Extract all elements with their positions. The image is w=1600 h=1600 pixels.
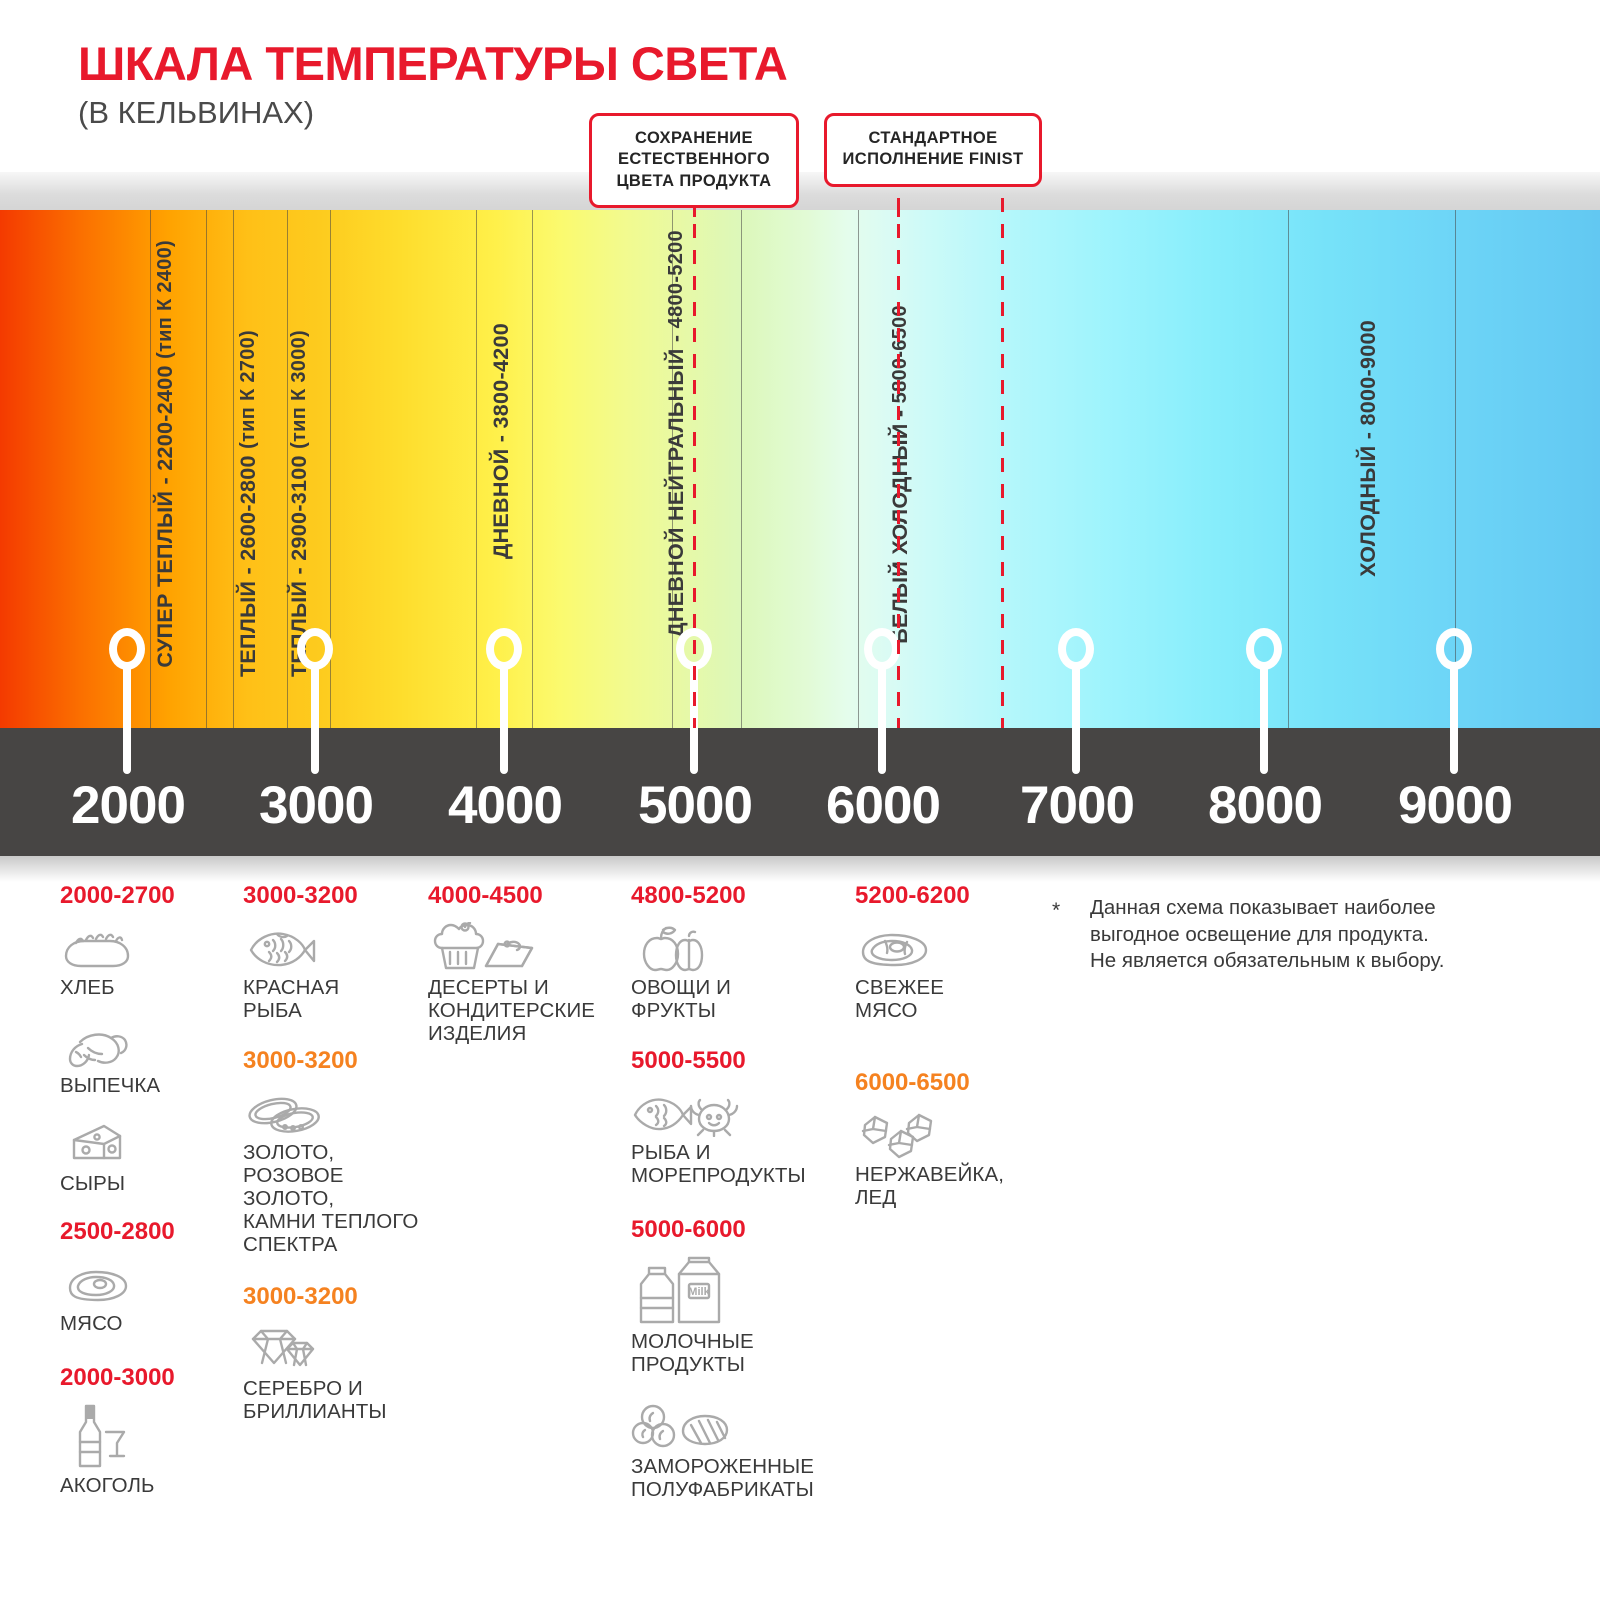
pin-head-icon [864, 628, 900, 670]
legend-column: 4000-4500 ДЕСЕРТЫ ИКОНДИТЕРСКИЕИЗДЕЛИЯ [428, 882, 623, 1060]
legend-group: 2500-2800 МЯСО [60, 1218, 235, 1336]
band-divider [532, 210, 533, 728]
axis-tick-8000: 8000 [1208, 775, 1322, 836]
band-label-line2: 5800-6500 [889, 305, 911, 403]
footnote-body: Данная схема показывает наиболее выгодно… [1090, 895, 1552, 975]
band-label-super-warm: СУПЕР ТЕПЛЫЙ - 2200-2400 (тип К 2400) [153, 240, 178, 668]
fish-icon [243, 916, 428, 972]
legend-caption: МЯСО [60, 1313, 235, 1336]
pin-head-icon [1058, 628, 1094, 670]
band-label-line1: СУПЕР ТЕПЛЫЙ - 2200-2400 [153, 365, 177, 667]
legend-group: 4000-4500 ДЕСЕРТЫ ИКОНДИТЕРСКИЕИЗДЕЛИЯ [428, 882, 623, 1046]
pin-stem [1260, 666, 1268, 774]
legend-group: 3000-3200 КРАСНАЯРЫБА [243, 882, 428, 1023]
legend-range: 6000-6500 [855, 1069, 1035, 1097]
legend-range: 5200-6200 [855, 882, 1035, 910]
footnote-line-1: Данная схема показывает наиболее [1090, 895, 1552, 922]
legend-caption: СВЕЖЕЕМЯСО [855, 977, 1035, 1023]
legend-caption: АКОГОЛЬ [60, 1475, 235, 1498]
pin-stem [1072, 666, 1080, 774]
legend-caption: ЗОЛОТО,РОЗОВОЕ ЗОЛОТО,КАМНИ ТЕПЛОГОСПЕКТ… [243, 1142, 428, 1257]
pin-head-icon [109, 628, 145, 670]
callout-finist-standard: СТАНДАРТНОЕ ИСПОЛНЕНИЕ FINIST [824, 113, 1042, 187]
pin-head-icon [1246, 628, 1282, 670]
axis-bar-shadow [0, 856, 1600, 882]
band-label-white-cold: БЕЛЫЙ ХОЛОДНЫЙ - 5800-6500 [888, 305, 913, 644]
axis-tick-7000: 7000 [1020, 775, 1134, 836]
ice-cubes-icon [855, 1103, 1035, 1159]
pin-stem [123, 666, 131, 774]
legend-item: ОВОЩИ ИФРУКТЫ [631, 916, 851, 1023]
legend-group: 3000-3200 ЗОЛОТО,РОЗОВОЕ ЗОЛОТО,КАМНИ ТЕ… [243, 1047, 428, 1257]
meat-icon [60, 1252, 235, 1308]
pin-head-icon [297, 628, 333, 670]
legend-range: 2000-2700 [60, 882, 235, 910]
pin-head-icon [486, 628, 522, 670]
footnote: * Данная схема показывает наиболее выгод… [1052, 895, 1552, 975]
rings-icon [243, 1081, 428, 1137]
legend-range: 2500-2800 [60, 1218, 235, 1246]
legend-item: СВЕЖЕЕМЯСО [855, 916, 1035, 1023]
legend-caption: РЫБА ИМОРЕПРОДУКТЫ [631, 1142, 851, 1188]
legend-item: КРАСНАЯРЫБА [243, 916, 428, 1023]
band-divider [233, 210, 234, 728]
legend-item: НЕРЖАВЕЙКА,ЛЕД [855, 1103, 1035, 1210]
legend-item: ДЕСЕРТЫ ИКОНДИТЕРСКИЕИЗДЕЛИЯ [428, 916, 623, 1046]
axis-tick-5000: 5000 [638, 775, 752, 836]
legend-range: 4800-5200 [631, 882, 851, 910]
band-label-cold: ХОЛОДНЫЙ - 8000-9000 [1356, 320, 1381, 577]
svg-text:Milk: Milk [688, 1286, 710, 1298]
axis-tick-9000: 9000 [1398, 775, 1512, 836]
legend-column: 3000-3200 КРАСНАЯРЫБА 3000-3200 ЗОЛОТО,Р… [243, 882, 428, 1438]
bread-icon [60, 916, 235, 972]
callout-natural-color: СОХРАНЕНИЕ ЕСТЕСТВЕННОГО ЦВЕТА ПРОДУКТА [589, 113, 799, 208]
page-subtitle: (В КЕЛЬВИНАХ) [78, 95, 314, 131]
legend-group: 3000-3200 СЕРЕБРО ИБРИЛЛИАНТЫ [243, 1283, 428, 1424]
legend-caption: ОВОЩИ ИФРУКТЫ [631, 977, 851, 1023]
band-divider [206, 210, 207, 728]
legend: 2000-2700 ХЛЕБ ВЫПЕЧКА СЫРЫ 25 [0, 882, 1600, 1600]
grey-strip [0, 172, 1600, 212]
reference-line-finist-start [897, 172, 900, 728]
band-label-warm-3000: ТЕПЛЫЙ - 2900-3100 (тип К 3000) [287, 330, 312, 677]
legend-caption: МОЛОЧНЫЕ ПРОДУКТЫ [631, 1331, 851, 1377]
legend-item: РЫБА ИМОРЕПРОДУКТЫ [631, 1081, 851, 1188]
pin-stem [311, 666, 319, 774]
footnote-line-2: выгодное освещение для продукта. [1090, 922, 1552, 949]
legend-caption: НЕРЖАВЕЙКА,ЛЕД [855, 1164, 1035, 1210]
cheese-icon [60, 1112, 235, 1168]
milk-icon: Milk [631, 1250, 851, 1326]
legend-group: 6000-6500 НЕРЖАВЕЙКА,ЛЕД [855, 1069, 1035, 1210]
legend-caption: ЗАМОРОЖЕННЫЕПОЛУФАБРИКАТЫ [631, 1456, 851, 1502]
band-label-warm-2700: ТЕПЛЫЙ - 2600-2800 (тип К 2700) [236, 330, 261, 677]
legend-caption: ХЛЕБ [60, 977, 235, 1000]
legend-range: 3000-3200 [243, 1047, 428, 1075]
reference-line-natural-color [693, 172, 696, 728]
legend-range: 2000-3000 [60, 1364, 235, 1392]
frozen-food-icon [631, 1395, 851, 1451]
band-label-line1: ДНЕВНОЙ НЕЙТРАЛЬНЫЙ - [664, 335, 688, 638]
legend-group: 5000-6000 Milk МОЛОЧНЫЕ ПРОДУКТЫ ЗАМОРОЖ… [631, 1216, 851, 1502]
axis-tick-2000: 2000 [71, 775, 185, 836]
footnote-line-3: Не является обязательным к выбору. [1090, 948, 1552, 975]
band-label-line2: (тип К 2700) [237, 330, 259, 449]
legend-column: 4800-5200 ОВОЩИ ИФРУКТЫ 5000-5500 РЫБА И… [631, 882, 851, 1516]
axis-bar: 2000 3000 4000 5000 6000 7000 8000 9000 [0, 728, 1600, 856]
band-label-line1: ДНЕВНОЙ - 3800-4200 [489, 323, 513, 559]
header: ШКАЛА ТЕМПЕРАТУРЫ СВЕТА (В КЕЛЬВИНАХ) [0, 0, 1600, 200]
legend-group: 2000-3000 АКОГОЛЬ [60, 1364, 235, 1498]
alcohol-icon [60, 1398, 235, 1470]
reference-line-finist-end [1001, 172, 1004, 728]
band-label-daylight: ДНЕВНОЙ - 3800-4200 [489, 323, 514, 559]
dessert-icon [428, 916, 623, 972]
legend-group: 5000-5500 РЫБА ИМОРЕПРОДУКТЫ [631, 1047, 851, 1188]
legend-range: 5000-6000 [631, 1216, 851, 1244]
band-label-daylight-neutral: ДНЕВНОЙ НЕЙТРАЛЬНЫЙ - 4800-5200 [664, 230, 689, 638]
legend-caption: СЫРЫ [60, 1173, 235, 1196]
legend-item: ЗАМОРОЖЕННЫЕПОЛУФАБРИКАТЫ [631, 1395, 851, 1502]
legend-group: 4800-5200 ОВОЩИ ИФРУКТЫ [631, 882, 851, 1023]
legend-range: 5000-5500 [631, 1047, 851, 1075]
axis-tick-3000: 3000 [259, 775, 373, 836]
legend-group: 2000-2700 ХЛЕБ ВЫПЕЧКА СЫРЫ [60, 882, 235, 1196]
band-label-line2: (тип К 3000) [288, 330, 310, 449]
legend-item: Milk МОЛОЧНЫЕ ПРОДУКТЫ [631, 1250, 851, 1377]
diamond-icon [243, 1317, 428, 1373]
pin-head-icon [1436, 628, 1472, 670]
legend-item: ВЫПЕЧКА [60, 1014, 235, 1098]
band-divider [741, 210, 742, 728]
color-temperature-scale: СУПЕР ТЕПЛЫЙ - 2200-2400 (тип К 2400) ТЕ… [0, 210, 1600, 728]
legend-range: 3000-3200 [243, 1283, 428, 1311]
band-divider [150, 210, 151, 728]
legend-item: АКОГОЛЬ [60, 1398, 235, 1498]
legend-item: ЗОЛОТО,РОЗОВОЕ ЗОЛОТО,КАМНИ ТЕПЛОГОСПЕКТ… [243, 1081, 428, 1257]
seafood-icon [631, 1081, 851, 1137]
fruits-vegetables-icon [631, 916, 851, 972]
page-title: ШКАЛА ТЕМПЕРАТУРЫ СВЕТА [78, 36, 787, 91]
band-label-line2: (тип К 2400) [154, 240, 176, 359]
legend-item: МЯСО [60, 1252, 235, 1336]
legend-group: 5200-6200 СВЕЖЕЕМЯСО [855, 882, 1035, 1023]
legend-caption: СЕРЕБРО ИБРИЛЛИАНТЫ [243, 1378, 428, 1424]
fresh-meat-icon [855, 916, 1035, 972]
legend-column: 2000-2700 ХЛЕБ ВЫПЕЧКА СЫРЫ 25 [60, 882, 235, 1512]
legend-range: 3000-3200 [243, 882, 428, 910]
legend-caption: ВЫПЕЧКА [60, 1075, 235, 1098]
legend-item: СЕРЕБРО ИБРИЛЛИАНТЫ [243, 1317, 428, 1424]
axis-tick-6000: 6000 [826, 775, 940, 836]
legend-caption: ДЕСЕРТЫ ИКОНДИТЕРСКИЕИЗДЕЛИЯ [428, 977, 623, 1046]
legend-caption: КРАСНАЯРЫБА [243, 977, 428, 1023]
legend-item: ХЛЕБ [60, 916, 235, 1000]
pin-stem [878, 666, 886, 774]
axis-tick-4000: 4000 [448, 775, 562, 836]
legend-item: СЫРЫ [60, 1112, 235, 1196]
band-label-line1: ТЕПЛЫЙ - 2600-2800 [236, 455, 260, 677]
band-label-line2: 4800-5200 [665, 230, 687, 328]
band-divider [858, 210, 859, 728]
croissant-icon [60, 1014, 235, 1070]
legend-column: 5200-6200 СВЕЖЕЕМЯСО 6000-6500 НЕРЖАВЕЙК… [855, 882, 1035, 1224]
band-divider [1288, 210, 1289, 728]
band-divider [476, 210, 477, 728]
band-label-line1: ХОЛОДНЫЙ - 8000-9000 [1356, 320, 1380, 577]
footnote-marker: * [1052, 897, 1060, 924]
legend-range: 4000-4500 [428, 882, 623, 910]
pin-stem [1450, 666, 1458, 774]
pin-stem [500, 666, 508, 774]
band-label-line1: БЕЛЫЙ ХОЛОДНЫЙ - [888, 410, 912, 644]
